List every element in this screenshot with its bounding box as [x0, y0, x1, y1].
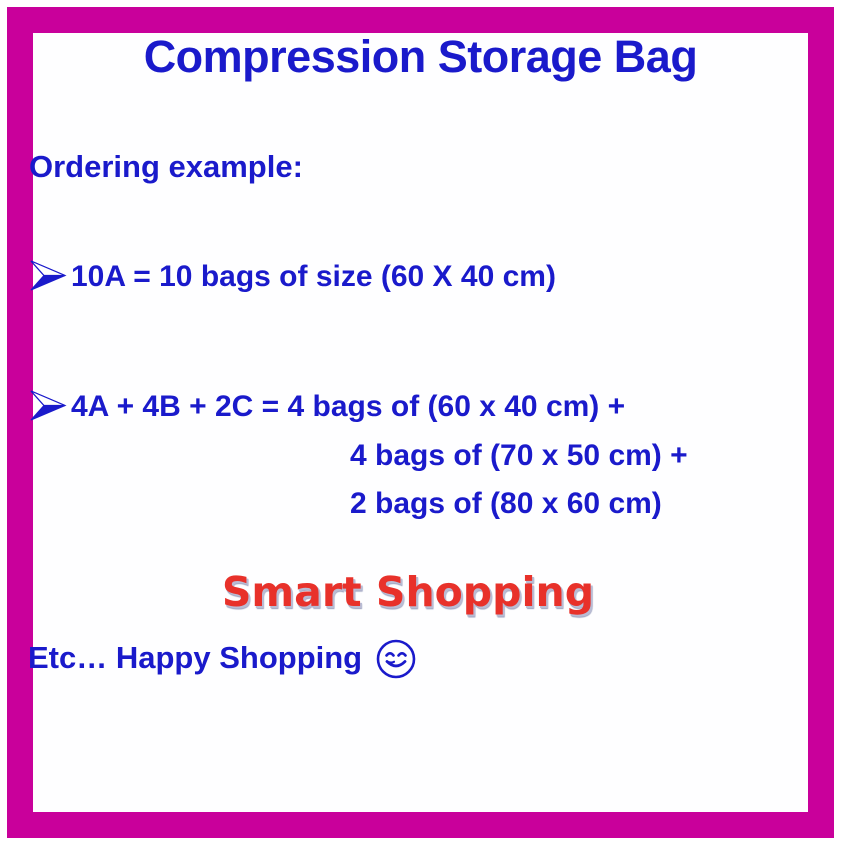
wordart-text: Smart Shopping	[222, 568, 594, 616]
slide-content: Compression Storage Bag Ordering example…	[0, 0, 841, 845]
ordering-example-heading: Ordering example:	[29, 148, 303, 186]
page-title: Compression Storage Bag	[33, 29, 808, 85]
arrowhead-bullet-icon	[27, 388, 71, 424]
arrowhead-bullet-icon	[27, 258, 71, 294]
slide-canvas: Compression Storage Bag Ordering example…	[0, 0, 841, 845]
list-item-label: 4A + 4B + 2C = 4 bags of (60 x 40 cm) +	[71, 388, 625, 426]
list-item: 10A = 10 bags of size (60 X 40 cm)	[27, 258, 556, 296]
list-item-continuation: 4 bags of (70 x 50 cm) +	[350, 437, 688, 475]
wordart-banner: Smart Shopping	[33, 568, 783, 616]
closing-line: Etc… Happy Shopping	[28, 637, 417, 679]
list-item-continuation: 2 bags of (80 x 60 cm)	[350, 485, 662, 523]
list-item-label: 10A = 10 bags of size (60 X 40 cm)	[71, 258, 556, 296]
smiling-face-icon	[375, 638, 417, 680]
list-item: 4A + 4B + 2C = 4 bags of (60 x 40 cm) +	[27, 388, 625, 426]
closing-text: Etc… Happy Shopping	[28, 638, 362, 678]
